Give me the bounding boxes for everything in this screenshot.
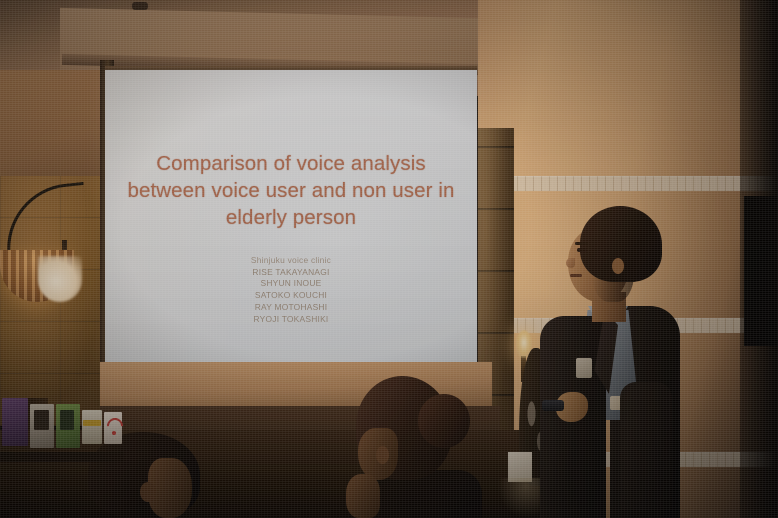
slide-author: RYOJI TOKASHIKI [121,314,461,326]
slide-affiliation: Shinjuku voice clinic [121,255,461,267]
audience-woman-hand [346,474,380,518]
speaker-arm [620,382,672,510]
speaker-eyebrow [575,242,588,245]
audience-member-woman [330,370,494,518]
slide-author: SATOKO KOUCHI [121,290,461,302]
arc-lamp-glow [38,256,82,302]
slide-author: RISE TAKAYANAGI [121,267,461,279]
speaker-mouth [570,274,582,277]
slide-title-line-2: between voice user and non user in [121,177,461,204]
speaker-nose [566,258,575,268]
right-dark-panel [744,196,778,346]
presentation-photo-scene: Comparison of voice analysis between voi… [0,0,778,518]
slide-author: RAY MOTOHASHI [121,302,461,314]
brochure-image [34,410,49,430]
notice-yellow [82,410,102,444]
name-badge [576,358,592,378]
slide-title: Comparison of voice analysis between voi… [121,150,461,231]
audience-woman-hair-bun [418,394,470,448]
ceiling-vent-icon [132,2,148,10]
slide-author: SHYUN INOUE [121,278,461,290]
presenter-remote [542,400,564,411]
slide-title-line-1: Comparison of voice analysis [121,150,461,177]
brochure-rack-base [0,452,124,462]
slide-content: Comparison of voice analysis between voi… [105,70,477,366]
audience-second-ear [140,482,156,502]
speaker-figure [536,206,696,518]
brochure-image [60,410,74,430]
slide-title-line-3: elderly person [121,204,461,231]
wifi-icon-dot [112,431,116,435]
speaker-ear [612,258,624,274]
speaker-eye [577,248,587,252]
audience-woman-ear [376,446,389,464]
notice-yellow-bar [83,420,101,426]
slide-author-block: Shinjuku voice clinic RISE TAKAYANAGI SH… [121,255,461,325]
mosaic-tile-band [478,176,778,191]
brochure-purple [2,398,28,446]
brochure-rack [0,398,124,476]
